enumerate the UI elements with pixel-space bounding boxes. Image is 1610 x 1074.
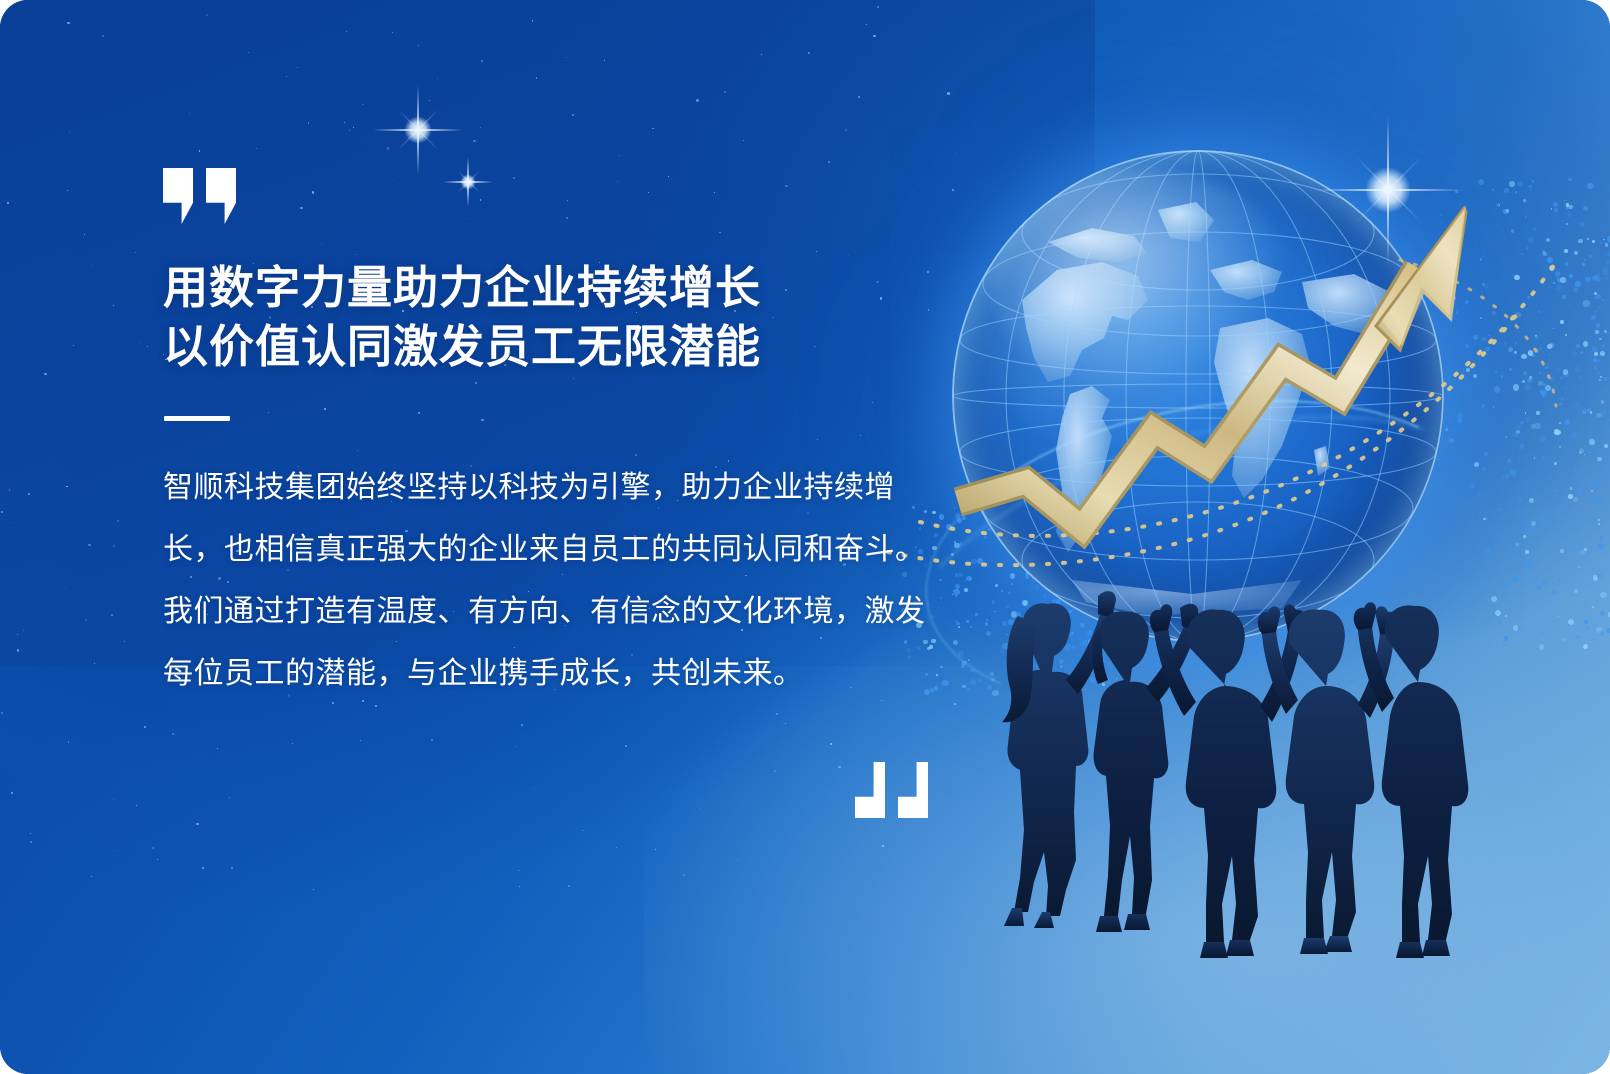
closing-quote-mark	[855, 762, 928, 818]
gold-growth-arrow	[930, 150, 1490, 630]
business-team-silhouettes	[950, 560, 1470, 960]
section-divider	[164, 416, 230, 421]
quote-close-glyph-right	[898, 762, 928, 818]
quote-glyph-right	[206, 168, 236, 224]
text-column: 用数字力量助力企业持续增长 以价值认同激发员工无限潜能 智顺科技集团始终坚持以科…	[163, 168, 953, 705]
opening-quote-mark	[163, 168, 953, 224]
quote-glyph-left	[163, 168, 193, 224]
banner-canvas: 用数字力量助力企业持续增长 以价值认同激发员工无限潜能 智顺科技集团始终坚持以科…	[0, 0, 1610, 1074]
person-silhouette-3	[1150, 604, 1307, 958]
page-title: 用数字力量助力企业持续增长 以价值认同激发员工无限潜能	[163, 258, 953, 376]
body-paragraph: 智顺科技集团始终坚持以科技为引擎，助力企业持续增长，也相信真正强大的企业来自员工…	[163, 457, 953, 705]
quote-close-glyph-left	[855, 762, 885, 818]
person-silhouette-2	[1092, 604, 1198, 932]
